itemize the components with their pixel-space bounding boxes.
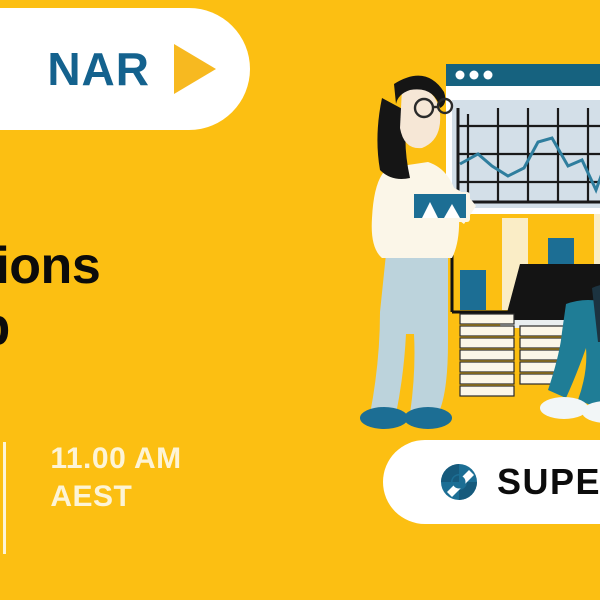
event-time-line-1: 11.00 AM xyxy=(50,442,181,475)
play-triangle-icon xyxy=(174,44,216,94)
brand-logo-pill: SUPE xyxy=(383,440,600,524)
brand-name: SUPE xyxy=(497,464,600,500)
super-circle-s-logo-icon xyxy=(439,462,479,502)
people-analysing-charts-illustration xyxy=(352,42,600,442)
event-time: 11.00 AM AEST xyxy=(50,440,181,517)
browser-window-mockup xyxy=(446,64,600,214)
headline-line-2: hop xyxy=(0,297,336,358)
eyebrow-label: NAR xyxy=(47,46,150,92)
webinar-eyebrow-pill: NAR xyxy=(0,8,250,130)
webinar-promo-banner: NAR butions hop ST 25 11.00 AM AEST xyxy=(0,0,600,600)
held-tablet xyxy=(410,192,470,222)
event-meta-row: ST 25 11.00 AM AEST xyxy=(0,440,182,554)
meta-divider xyxy=(3,442,6,554)
page-title: butions hop xyxy=(0,236,336,359)
headline-line-1: butions xyxy=(0,237,100,295)
event-time-line-2: AEST xyxy=(50,478,181,516)
